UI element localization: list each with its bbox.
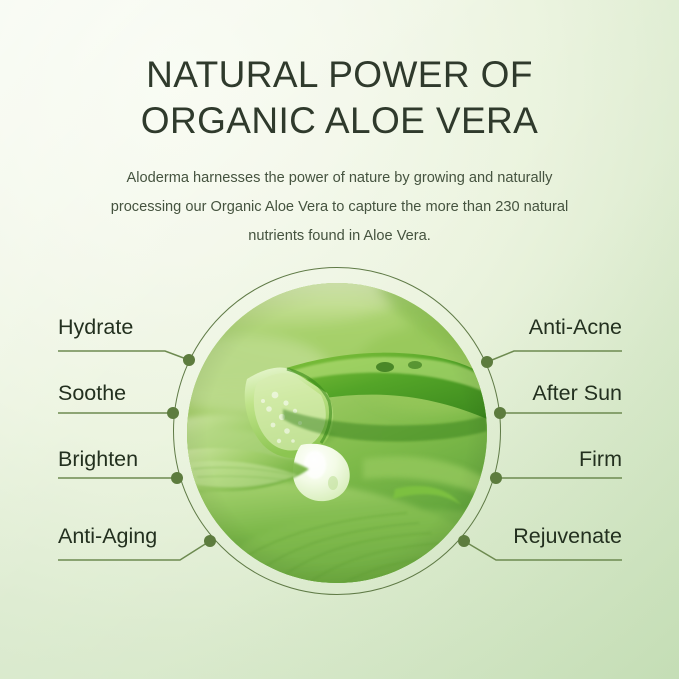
benefit-label-anti-acne: Anti-Acne [529, 314, 622, 340]
benefit-label-hydrate: Hydrate [58, 314, 133, 340]
connector-anti-acne [487, 351, 622, 362]
connector-hydrate [58, 351, 189, 360]
header-block: NATURAL POWER OF ORGANIC ALOE VERA Alode… [0, 52, 679, 251]
benefit-label-soothe: Soothe [58, 380, 126, 406]
aloe-circle-graphic [173, 267, 501, 595]
aloe-photo-circle [187, 283, 487, 583]
page-subtitle: Aloderma harnesses the power of nature b… [90, 164, 590, 251]
benefit-label-rejuvenate: Rejuvenate [513, 523, 622, 549]
page-title: NATURAL POWER OF ORGANIC ALOE VERA [0, 52, 679, 144]
benefit-label-after-sun: After Sun [532, 380, 622, 406]
benefit-label-firm: Firm [579, 446, 622, 472]
poster-canvas: NATURAL POWER OF ORGANIC ALOE VERA Alode… [0, 0, 679, 679]
benefit-label-anti-aging: Anti-Aging [58, 523, 157, 549]
benefit-label-brighten: Brighten [58, 446, 138, 472]
